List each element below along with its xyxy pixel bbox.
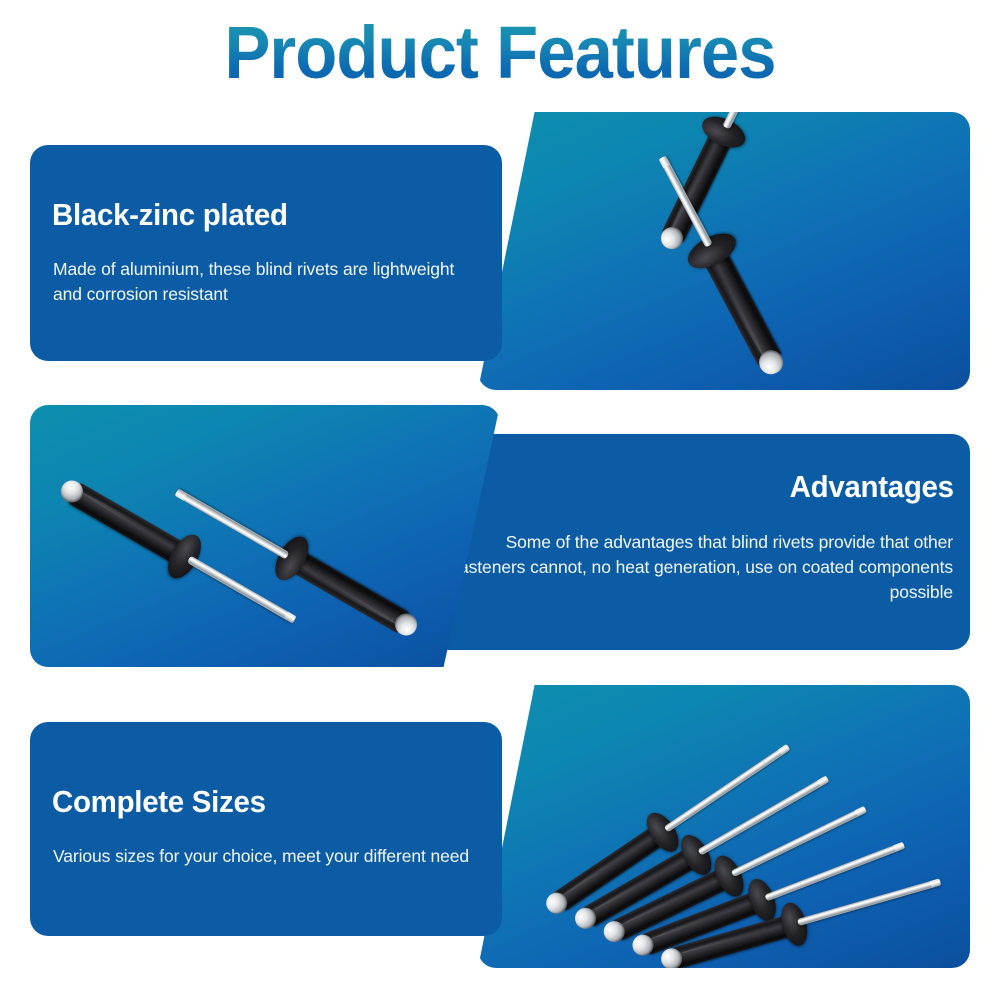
page-title: Product Features xyxy=(35,14,965,92)
feature-heading: Advantages xyxy=(790,469,954,505)
rivet-mandrel xyxy=(722,112,771,129)
feature-row-advantages: Advantages Some of the advantages that b… xyxy=(0,400,1000,670)
product-photo-parallel-rivets xyxy=(30,405,500,667)
feature-heading: Black-zinc plated xyxy=(52,197,288,233)
rivet-body xyxy=(65,481,188,566)
feature-heading: Complete Sizes xyxy=(52,784,266,820)
feature-card-advantages[interactable]: Advantages Some of the advantages that b… xyxy=(430,434,970,650)
product-photo-crossed-rivets xyxy=(478,112,970,390)
product-photo-fanned-rivets xyxy=(478,685,970,968)
feature-body: Various sizes for your choice, meet your… xyxy=(53,844,483,869)
rivet-lower xyxy=(650,151,801,390)
feature-row-complete-sizes: Complete Sizes Various sizes for your ch… xyxy=(0,685,1000,968)
rivet-flange xyxy=(777,900,812,949)
feature-card-complete-sizes[interactable]: Complete Sizes Various sizes for your ch… xyxy=(30,722,502,936)
feature-body: Some of the advantages that blind rivets… xyxy=(453,530,953,605)
feature-row-black-zinc: Black-zinc plated Made of aluminium, the… xyxy=(0,112,1000,394)
feature-card-black-zinc[interactable]: Black-zinc plated Made of aluminium, the… xyxy=(30,145,502,361)
feature-body: Made of aluminium, these blind rivets ar… xyxy=(53,257,473,307)
